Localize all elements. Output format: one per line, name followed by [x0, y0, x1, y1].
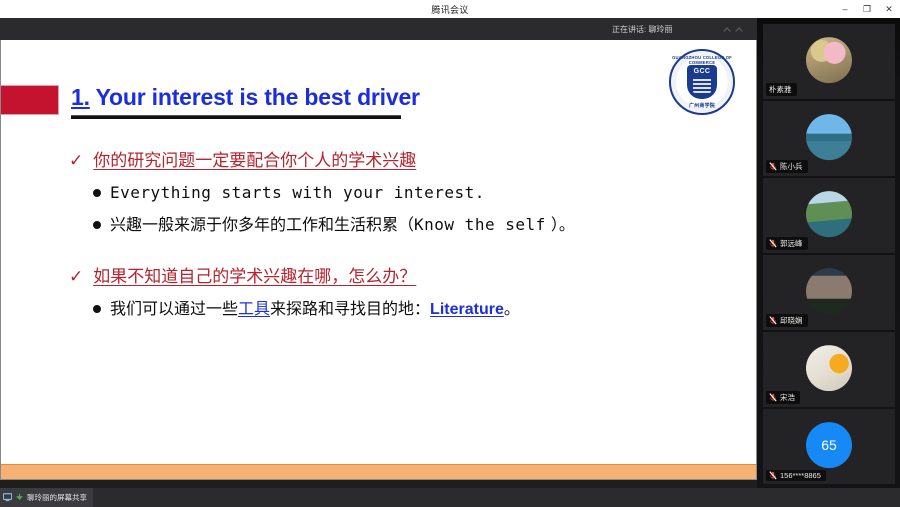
slide-bullet-level2-text: 我们可以通过一些工具来探路和寻找目的地：Literature。 [110, 298, 520, 321]
university-logo: GUANGZHOU COLLEGE OF COMMERCE GCC 广州商学院 [666, 46, 738, 118]
logo-arc-bottom-text: 广州商学院 [671, 102, 733, 109]
participant-name: 陈小兵 [780, 161, 803, 172]
taskbar-item-screen-share[interactable]: 聊玲丽的屏幕共享 [0, 488, 93, 507]
slide-accent-block [0, 85, 59, 115]
slide-bullet-level2: 我们可以通过一些工具来探路和寻找目的地：Literature。 [1, 298, 757, 321]
microphone-muted-icon [769, 471, 777, 480]
minimize-button[interactable]: – [834, 0, 856, 18]
slide-bullet-level1-text: 你的研究问题一定要配合你个人的学术兴趣 [93, 150, 416, 172]
slide-bullet-level2-text: 兴趣一般来源于你多年的工作和生活积累（Know the self ）。 [110, 214, 575, 236]
microphone-muted-icon [769, 393, 777, 402]
participant-tile[interactable]: 郭远峰 [763, 178, 895, 253]
participant-tile[interactable]: 朴素雅 [763, 24, 895, 99]
checkmark-icon: ✓ [69, 266, 83, 288]
window-title-bar: 腾讯会议 – ❐ ✕ [0, 0, 900, 18]
slide-content: ✓你的研究问题一定要配合你个人的学术兴趣Everything starts wi… [1, 150, 757, 321]
participant-name: 朴素雅 [769, 84, 792, 95]
checkmark-icon: ✓ [69, 150, 83, 172]
slide-hyperlink[interactable]: Literature [430, 301, 504, 318]
participant-avatar [806, 191, 852, 237]
windows-taskbar: 聊玲丽的屏幕共享 [0, 488, 900, 507]
logo-crest-icon [693, 77, 711, 93]
slide-bullet-level2: 兴趣一般来源于你多年的工作和生活积累（Know the self ）。 [1, 214, 757, 236]
maximize-button[interactable]: ❐ [856, 0, 878, 18]
microphone-muted-icon [769, 239, 777, 248]
presentation-slide: 1. Your interest is the best driver GUAN… [1, 40, 756, 479]
slide-hyperlink[interactable]: 工具 [238, 299, 270, 318]
slide-bullet-level1: ✓如果不知道自己的学术兴趣在哪，怎么办？ [1, 266, 757, 288]
slide-bullet-level2-text: Everything starts with your interest. [110, 182, 485, 204]
participant-avatar [806, 37, 852, 83]
participant-avatar [806, 268, 852, 314]
slide-text-run: Everything starts with your interest. [110, 183, 485, 202]
participant-name: 宋浩 [780, 392, 795, 403]
slide-footer-strip [1, 464, 757, 479]
microphone-muted-icon [769, 162, 777, 171]
shared-screen-stage: 1. Your interest is the best driver GUAN… [0, 40, 757, 480]
participant-name: 邱晓娴 [780, 315, 803, 326]
title-underline-rule [71, 115, 401, 119]
participant-label: 陈小兵 [766, 160, 808, 173]
participant-label: 郭远峰 [766, 237, 808, 250]
participant-label: 邱晓娴 [766, 314, 808, 327]
slide-title-number: 1. [71, 84, 90, 110]
participant-name: 156****8865 [780, 471, 821, 480]
slide-title: 1. Your interest is the best driver [71, 84, 420, 111]
participant-avatar [806, 345, 852, 391]
participant-avatar: 65 [806, 422, 852, 468]
participant-label: 宋浩 [766, 391, 800, 404]
active-speaker-label: 正在讲话: 聊玲丽 [612, 18, 672, 40]
bullet-dot-icon [93, 221, 101, 229]
taskbar-item-label: 聊玲丽的屏幕共享 [27, 492, 87, 503]
slide-bullet-level2: Everything starts with your interest. [1, 182, 757, 204]
download-arrow-icon [15, 493, 24, 502]
slide-text-run: ）。 [546, 215, 575, 234]
logo-shield-icon: GCC [687, 65, 717, 99]
double-chevron-icon[interactable] [722, 18, 745, 40]
slide-text-run: 来探路和寻找目的地： [270, 299, 430, 318]
close-button[interactable]: ✕ [878, 0, 900, 18]
microphone-muted-icon [769, 316, 777, 325]
participant-tile[interactable]: 陈小兵 [763, 101, 895, 176]
monitor-share-icon [3, 493, 12, 502]
participant-avatar [806, 114, 852, 160]
participant-rail[interactable]: 朴素雅陈小兵郭远峰邱晓娴宋浩65156****8865 [757, 18, 900, 488]
slide-title-text: Your interest is the best driver [96, 84, 420, 110]
participant-name: 郭远峰 [780, 238, 803, 249]
participant-tile[interactable]: 宋浩 [763, 332, 895, 407]
slide-text-run: 我们可以通过一些 [110, 299, 238, 318]
slide-text-run: Know the self [414, 215, 546, 234]
tencent-meeting-window: 腾讯会议 – ❐ ✕ 正在讲话: 聊玲丽 1. Your interest is… [0, 0, 900, 507]
slide-text-run: 。 [504, 299, 520, 318]
bullet-dot-icon [93, 305, 101, 313]
participant-label: 朴素雅 [766, 83, 797, 96]
slide-bullet-level1: ✓你的研究问题一定要配合你个人的学术兴趣 [1, 150, 757, 172]
window-controls: – ❐ ✕ [834, 0, 900, 18]
participant-label: 156****8865 [766, 470, 826, 481]
logo-abbrev: GCC [694, 68, 711, 75]
logo-arc-top-text: GUANGZHOU COLLEGE OF COMMERCE [671, 55, 733, 65]
participant-tile[interactable]: 邱晓娴 [763, 255, 895, 330]
bullet-dot-icon [93, 189, 101, 197]
slide-text-run: 兴趣一般来源于你多年的工作和生活积累（ [110, 215, 414, 234]
participant-tile[interactable]: 65156****8865 [763, 409, 895, 484]
window-title: 腾讯会议 [431, 3, 468, 16]
slide-bullet-level1-text: 如果不知道自己的学术兴趣在哪，怎么办？ [93, 266, 416, 288]
